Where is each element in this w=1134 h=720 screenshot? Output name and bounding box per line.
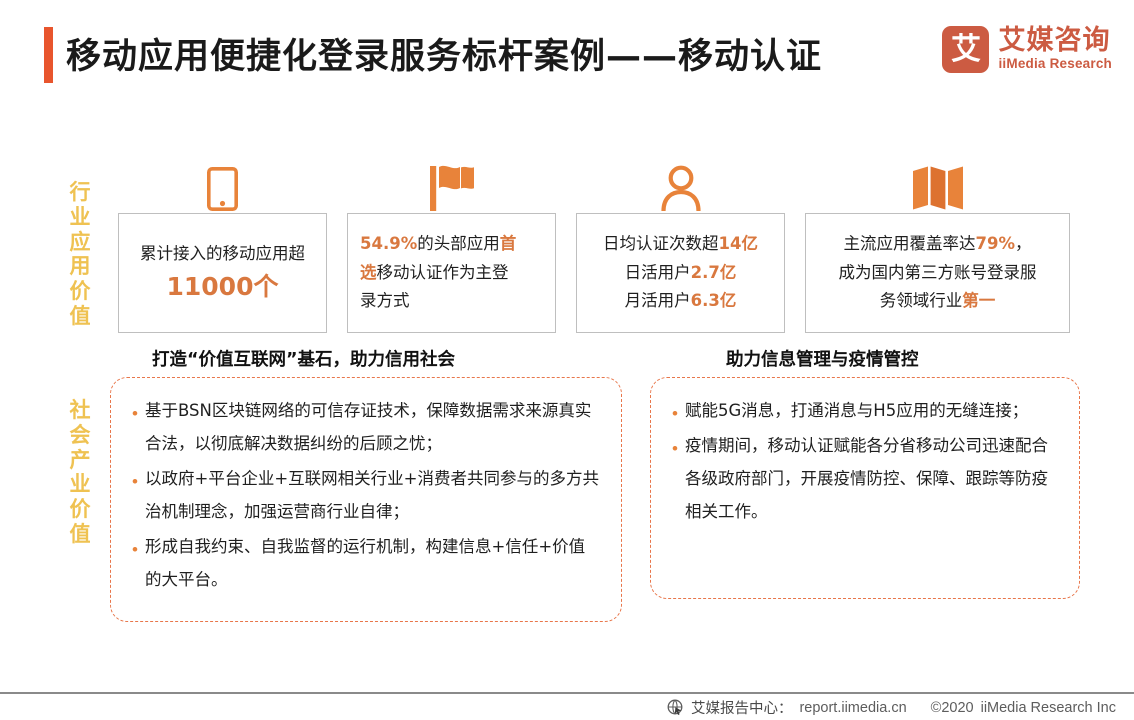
bullet-item: •基于BSN区块链网络的可信存证技术，保障数据需求来源真实合法，以彻底解决数据纠… — [125, 394, 601, 460]
stat-text: ， — [1015, 234, 1032, 253]
stat-text: 务领域行业 — [880, 291, 963, 310]
stat-highlight: 2.7亿 — [691, 263, 737, 282]
title-accent-bar — [44, 27, 53, 83]
section-heading-right: 助力信息管理与疫情管控 — [726, 346, 919, 371]
brand-logo: 艾 艾媒咨询 iiMedia Research — [942, 26, 1112, 73]
stat-card: 累计接入的移动应用超11000个 — [118, 213, 327, 333]
bullet-dot-icon: • — [125, 394, 145, 422]
stat-value: 11000个 — [167, 272, 279, 301]
stat-card: 主流应用覆盖率达79%，成为国内第三方账号登录服务领域行业第一 — [805, 213, 1070, 333]
page-title: 移动应用便捷化登录服务标杆案例——移动认证 — [66, 28, 822, 79]
bullet-dot-icon: • — [125, 530, 145, 558]
bullet-item: •形成自我约束、自我监督的运行机制，构建信息+信任+价值的大平台。 — [125, 530, 601, 596]
side-label-industry-value: 行业应用价值 — [63, 180, 97, 329]
side-label-char: 社 — [63, 398, 97, 423]
stat-highlight: 首 — [500, 234, 517, 253]
stat-line: 日均认证次数超14亿 — [589, 230, 772, 258]
stat-line: 成为国内第三方账号登录服 — [818, 259, 1057, 287]
stat-card: 54.9%的头部应用首选移动认证作为主登录方式 — [347, 213, 556, 333]
side-label-char: 会 — [63, 423, 97, 448]
bullet-text: 形成自我约束、自我监督的运行机制，构建信息+信任+价值的大平台。 — [145, 530, 601, 596]
tablet-icon — [118, 163, 327, 211]
stat-line: 选移动认证作为主登 — [360, 259, 543, 287]
person-icon — [576, 160, 785, 211]
bullet-text: 基于BSN区块链网络的可信存证技术，保障数据需求来源真实合法，以彻底解决数据纠纷… — [145, 394, 601, 460]
stat-text: 的头部应用 — [417, 234, 500, 253]
stat-line: 累计接入的移动应用超 — [131, 240, 314, 268]
stat-line: 录方式 — [360, 287, 543, 315]
slide-canvas: 移动应用便捷化登录服务标杆案例——移动认证 艾 艾媒咨询 iiMedia Res… — [0, 0, 1134, 720]
flag-icon — [347, 163, 556, 211]
stat-text: 日活用户 — [625, 263, 691, 282]
slide-footer: 艾媒报告中心： report.iimedia.cn ©2020 iiMedia … — [667, 697, 1116, 718]
footer-company: iiMedia Research Inc — [981, 700, 1116, 716]
stat-line: 54.9%的头部应用首 — [360, 230, 543, 258]
stat-card-body: 日均认证次数超14亿日活用户2.7亿月活用户6.3亿 — [577, 214, 784, 332]
stat-card-body: 累计接入的移动应用超11000个 — [119, 214, 326, 332]
stat-highlight: 79% — [976, 234, 1016, 253]
stat-highlight: 6.3亿 — [691, 291, 737, 310]
stat-text: 主流应用覆盖率达 — [844, 234, 976, 253]
footer-copyright: ©2020 — [931, 700, 974, 716]
bullet-dot-icon: • — [665, 429, 685, 457]
stat-text: 录方式 — [360, 291, 410, 310]
stat-card-body: 主流应用覆盖率达79%，成为国内第三方账号登录服务领域行业第一 — [806, 214, 1069, 332]
stat-text: 累计接入的移动应用超 — [140, 244, 305, 263]
footer-divider — [0, 692, 1134, 694]
stat-line: 日活用户2.7亿 — [589, 259, 772, 287]
side-label-char: 行 — [63, 180, 97, 205]
bullet-text: 以政府+平台企业+互联网相关行业+消费者共同参与的多方共治机制理念，加强运营商行… — [145, 462, 601, 528]
logo-text: 艾媒咨询 iiMedia Research — [998, 27, 1112, 73]
bullet-panel-left: •基于BSN区块链网络的可信存证技术，保障数据需求来源真实合法，以彻底解决数据纠… — [110, 377, 622, 622]
side-label-char: 应 — [63, 230, 97, 255]
stat-card-body: 54.9%的头部应用首选移动认证作为主登录方式 — [348, 214, 555, 332]
stat-line: 11000个 — [131, 268, 314, 306]
bullet-dot-icon: • — [125, 462, 145, 490]
footer-url[interactable]: report.iimedia.cn — [799, 700, 906, 716]
side-label-char: 价 — [63, 497, 97, 522]
stat-highlight: 第一 — [962, 291, 995, 310]
bullet-item: •以政府+平台企业+互联网相关行业+消费者共同参与的多方共治机制理念，加强运营商… — [125, 462, 601, 528]
bullet-dot-icon: • — [665, 394, 685, 422]
slide-header: 移动应用便捷化登录服务标杆案例——移动认证 艾 艾媒咨询 iiMedia Res… — [0, 0, 1134, 110]
stat-highlight: 54.9% — [360, 234, 417, 253]
logo-name-en: iiMedia Research — [998, 55, 1112, 73]
stat-line: 务领域行业第一 — [818, 287, 1057, 315]
stat-card: 日均认证次数超14亿日活用户2.7亿月活用户6.3亿 — [576, 213, 785, 333]
side-label-social-value: 社会产业价值 — [63, 398, 97, 547]
bullet-panel-right: •赋能5G消息，打通消息与H5应用的无缝连接；•疫情期间，移动认证赋能各分省移动… — [650, 377, 1080, 599]
stat-text: 成为国内第三方账号登录服 — [839, 263, 1037, 282]
side-label-char: 用 — [63, 254, 97, 279]
bullet-item: •赋能5G消息，打通消息与H5应用的无缝连接； — [665, 394, 1059, 427]
stat-text: 日均认证次数超 — [603, 234, 719, 253]
side-label-char: 值 — [63, 522, 97, 547]
footer-report-center-label: 艾媒报告中心： — [691, 697, 793, 718]
stat-highlight: 14亿 — [719, 234, 758, 253]
logo-name-cn: 艾媒咨询 — [998, 27, 1112, 55]
stat-highlight: 选 — [360, 263, 377, 282]
bullet-text: 疫情期间，移动认证赋能各分省移动公司迅速配合各级政府部门，开展疫情防控、保障、跟… — [685, 429, 1059, 528]
side-label-char: 业 — [63, 205, 97, 230]
bullet-text: 赋能5G消息，打通消息与H5应用的无缝连接； — [685, 394, 1028, 427]
logo-mark-icon: 艾 — [942, 26, 989, 73]
bullet-item: •疫情期间，移动认证赋能各分省移动公司迅速配合各级政府部门，开展疫情防控、保障、… — [665, 429, 1059, 528]
section-heading-left: 打造“价值互联网”基石，助力信用社会 — [152, 346, 455, 371]
side-label-char: 价 — [63, 279, 97, 304]
stat-text: 月活用户 — [625, 291, 691, 310]
stat-line: 主流应用覆盖率达79%， — [818, 230, 1057, 258]
side-label-char: 产 — [63, 448, 97, 473]
side-label-char: 业 — [63, 472, 97, 497]
stat-text: 移动认证作为主登 — [377, 263, 509, 282]
side-label-char: 值 — [63, 304, 97, 329]
stat-line: 月活用户6.3亿 — [589, 287, 772, 315]
globe-cursor-icon — [667, 699, 684, 716]
folded-map-icon — [805, 160, 1070, 211]
